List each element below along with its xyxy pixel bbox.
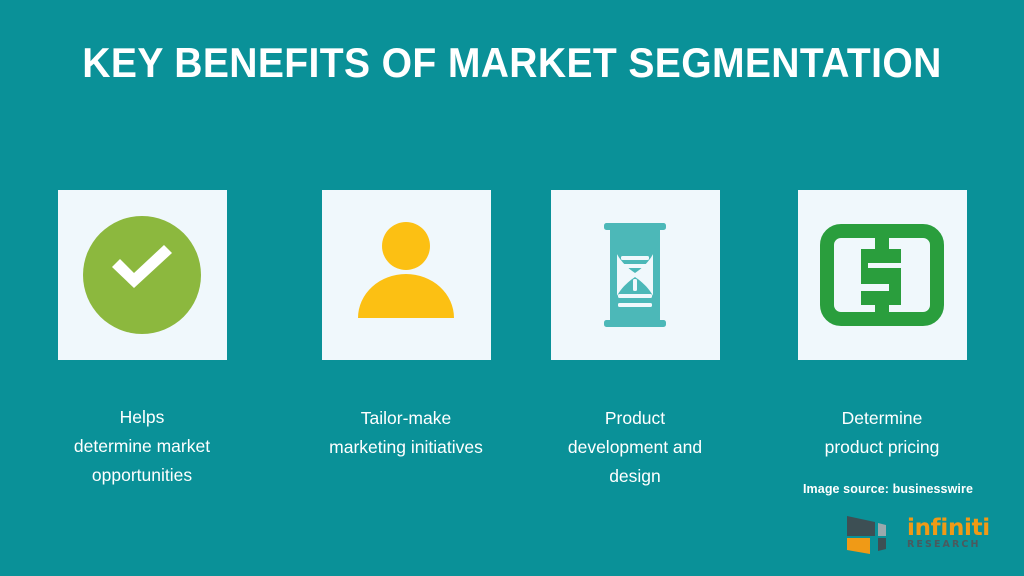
check-mark-icon: [109, 244, 175, 288]
benefit-item-4: Determine product pricing: [762, 190, 1002, 462]
benefit-caption-2: Tailor-make marketing initiatives: [286, 404, 526, 462]
benefit-icon-card-3: [551, 190, 720, 360]
benefit-caption-4: Determine product pricing: [762, 404, 1002, 462]
slide-canvas: Key Benefits of Market Segmentation Help…: [0, 0, 1024, 576]
benefit-icon-card-4: [798, 190, 967, 360]
benefit-item-2: Tailor-make marketing initiatives: [286, 190, 526, 462]
person-body-shape: [358, 274, 454, 318]
infiniti-research-logo: infiniti RESEARCH: [845, 512, 993, 558]
logo-mark-icon: [845, 514, 901, 556]
logo-subtitle: RESEARCH: [907, 539, 993, 550]
benefit-icon-card-1: [58, 190, 227, 360]
benefits-row: Helps determine market opportunities Tai…: [0, 190, 1024, 520]
hourglass-icon: [604, 223, 666, 327]
person-head-shape: [382, 222, 430, 270]
money-icon: [820, 224, 944, 326]
person-icon: [358, 222, 454, 328]
check-circle-icon: [83, 216, 201, 334]
benefit-item-3: Product development and design: [515, 190, 755, 491]
image-source-credit: Image source: businesswire: [762, 482, 1014, 496]
logo-wordmark: infiniti: [907, 516, 993, 540]
benefit-caption-1: Helps determine market opportunities: [22, 403, 262, 490]
benefit-caption-3: Product development and design: [515, 404, 755, 491]
benefit-item-1: Helps determine market opportunities: [22, 190, 262, 490]
logo-text-block: infiniti RESEARCH: [907, 516, 993, 550]
page-title: Key Benefits of Market Segmentation: [36, 38, 988, 88]
benefit-icon-card-2: [322, 190, 491, 360]
